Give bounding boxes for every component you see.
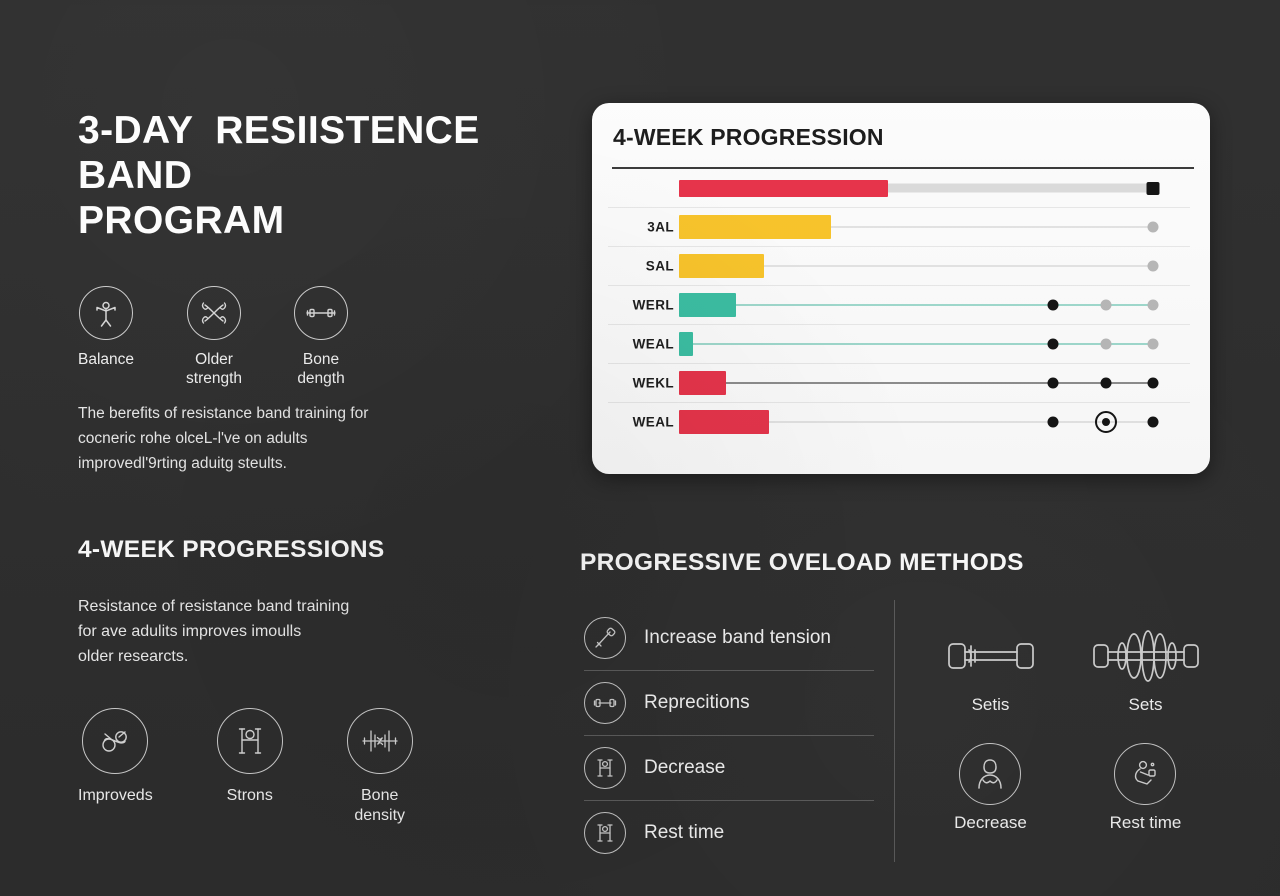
chart-marker-active[interactable]	[1147, 182, 1160, 195]
resistance-frame-icon	[584, 747, 626, 789]
chart-row-track	[679, 343, 1153, 345]
hero-benefit-balance-label: Balance	[78, 350, 134, 369]
progressions-paragraph: Resistance of resistance band training f…	[78, 595, 438, 670]
chart-row-label: WEKL	[612, 376, 674, 391]
section-divider	[894, 600, 895, 862]
page-title-line-2: BAND	[78, 153, 548, 198]
method-item[interactable]: Reprecitions	[584, 671, 874, 736]
resistance-frame-icon	[217, 708, 283, 774]
method-item-label: Increase band tension	[644, 627, 831, 649]
dumbbell-icon	[584, 682, 626, 724]
chart-marker-active[interactable]	[1100, 378, 1111, 389]
method-item[interactable]: Decrease	[584, 736, 874, 801]
equipment-item-setis: Setis	[941, 625, 1041, 715]
chart-bar	[679, 180, 888, 197]
hero-paragraph: The berefits of resistance band training…	[78, 401, 438, 476]
progression-chart-card: 4-WEEK PROGRESSION 3ALSALWERLWEALWEKLWEA…	[592, 103, 1210, 474]
equipment-item-decrease: Decrease	[954, 743, 1027, 833]
progressions-benefit-improveds-label: Improveds	[78, 786, 153, 806]
dumbbell-outline-icon	[941, 625, 1041, 687]
hero-benefit-bone-dength: Bone dength	[294, 286, 348, 389]
equipment-item-label: Rest time	[1110, 813, 1182, 833]
chart-marker-active[interactable]	[1148, 378, 1159, 389]
chart-bar	[679, 293, 736, 317]
chart-row-track	[679, 265, 1153, 267]
method-item-label: Rest time	[644, 822, 724, 844]
chart-row-label: WEAL	[612, 415, 674, 430]
chart-bar	[679, 215, 831, 239]
chart-marker-inactive[interactable]	[1100, 300, 1111, 311]
chart-bar	[679, 410, 769, 434]
balance-person-icon	[79, 286, 133, 340]
crossed-bands-icon	[187, 286, 241, 340]
seated-rest-icon	[1114, 743, 1176, 805]
chart-marker-inactive[interactable]	[1148, 222, 1159, 233]
method-item[interactable]: Increase band tension	[584, 606, 874, 671]
chart-row: WEAL	[608, 325, 1190, 364]
page-title: 3-DAY RESIISTENCE BAND PROGRAM	[78, 108, 548, 244]
chart-marker-active[interactable]	[1048, 300, 1059, 311]
progressions-benefit-bone-density: Bone density	[347, 708, 413, 826]
chart-row-list: 3ALSALWERLWEALWEKLWEAL	[592, 169, 1210, 441]
barbell-icon	[294, 286, 348, 340]
torso-person-icon	[959, 743, 1021, 805]
progressions-benefit-strons: Strons	[217, 708, 283, 806]
chart-marker-active[interactable]	[1148, 417, 1159, 428]
chart-row: WERL	[608, 286, 1190, 325]
resistance-frame-icon	[584, 812, 626, 854]
progressions-benefit-improveds: Improveds	[78, 708, 153, 806]
method-item[interactable]: Rest time	[584, 801, 874, 865]
equipment-item-label: Decrease	[954, 813, 1027, 833]
method-item-label: Reprecitions	[644, 692, 750, 714]
chart-marker-inactive[interactable]	[1100, 339, 1111, 350]
chart-row: WEKL	[608, 364, 1190, 403]
progressions-benefit-bone-density-label: Bone density	[354, 786, 405, 826]
equipment-grid: Setis Sets	[918, 625, 1218, 833]
equipment-item-rest-time: Rest time	[1110, 743, 1182, 833]
progressions-heading: 4-WEEK PROGRESSIONS	[78, 536, 385, 564]
chart-row-label: SAL	[612, 259, 674, 274]
equipment-item-sets: Sets	[1090, 625, 1202, 715]
method-item-label: Decrease	[644, 757, 725, 779]
equipment-item-label: Sets	[1128, 695, 1162, 715]
chart-row-label: 3AL	[612, 220, 674, 235]
plate-barbell-icon	[1090, 625, 1202, 687]
infographic-page: 3-DAY RESIISTENCE BAND PROGRAM Balance	[0, 0, 1280, 896]
chart-row-track	[679, 382, 1153, 384]
chart-title: 4-WEEK PROGRESSION	[613, 124, 884, 151]
hero-benefit-icons: Balance Older strength	[78, 286, 348, 389]
chart-row-track	[679, 421, 1153, 423]
chart-bar	[679, 254, 764, 278]
progressions-benefit-strons-label: Strons	[227, 786, 273, 806]
chart-row: 3AL	[608, 208, 1190, 247]
chart-marker-inactive[interactable]	[1148, 339, 1159, 350]
equipment-item-label: Setis	[972, 695, 1010, 715]
chart-row-track	[679, 226, 1153, 228]
infinity-loop-icon	[82, 708, 148, 774]
chart-bar	[679, 332, 693, 356]
band-handle-icon	[584, 617, 626, 659]
progressions-benefit-icons: Improveds Strons	[78, 708, 413, 826]
chart-marker-active[interactable]	[1048, 378, 1059, 389]
overload-method-list: Increase band tension Reprecitions	[584, 606, 874, 865]
chart-row-track	[679, 184, 1153, 193]
hero-benefit-older-strength: Older strength	[186, 286, 242, 389]
chart-row-label: WEAL	[612, 337, 674, 352]
overload-heading: PROGRESSIVE OVELOAD METHODS	[580, 549, 1024, 577]
chart-row-track	[679, 304, 1153, 306]
chart-row: SAL	[608, 247, 1190, 286]
page-title-line-3: PROGRAM	[78, 198, 548, 243]
hero-benefit-balance: Balance	[78, 286, 134, 369]
hero-benefit-bone-dength-label: Bone dength	[297, 350, 344, 389]
page-title-line-1: 3-DAY RESIISTENCE	[78, 108, 548, 153]
chart-marker-selected[interactable]	[1095, 411, 1117, 433]
chart-row	[608, 169, 1190, 208]
chart-marker-active[interactable]	[1048, 417, 1059, 428]
chart-row-label: WERL	[612, 298, 674, 313]
chart-marker-inactive[interactable]	[1148, 300, 1159, 311]
chart-bar	[679, 371, 726, 395]
hero-benefit-older-strength-label: Older strength	[186, 350, 242, 389]
chart-marker-inactive[interactable]	[1148, 261, 1159, 272]
chart-row: WEAL	[608, 403, 1190, 441]
plate-bar-icon	[347, 708, 413, 774]
chart-marker-active[interactable]	[1048, 339, 1059, 350]
